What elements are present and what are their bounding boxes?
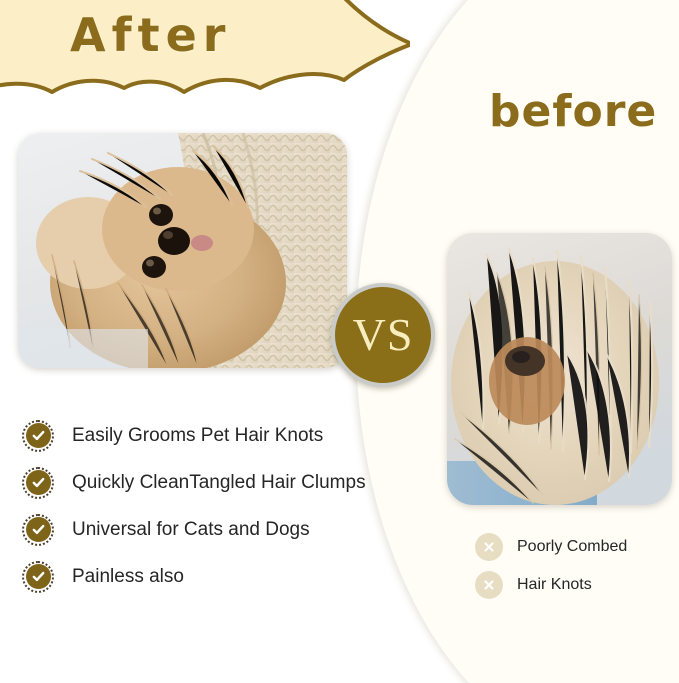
- check-circle-icon: [22, 420, 54, 452]
- list-item: Quickly CleanTangled Hair Clumps: [22, 459, 382, 506]
- vs-badge-label: VS: [353, 312, 414, 358]
- list-item: Easily Grooms Pet Hair Knots: [22, 412, 382, 459]
- list-item: Painless also: [22, 553, 382, 600]
- after-title: After: [70, 8, 232, 62]
- check-circle-icon: [22, 561, 54, 593]
- benefit-label: Universal for Cats and Dogs: [72, 519, 310, 541]
- benefit-label: Easily Grooms Pet Hair Knots: [72, 425, 323, 447]
- cons-list: Poorly Combed Hair Knots: [475, 528, 675, 604]
- before-title: before: [489, 86, 657, 137]
- list-item: Hair Knots: [475, 566, 675, 604]
- con-label: Poorly Combed: [517, 538, 627, 556]
- check-circle-icon: [22, 514, 54, 546]
- comparison-infographic: VS After before Easily Grooms Pet Hair K…: [0, 0, 679, 683]
- list-item: Universal for Cats and Dogs: [22, 506, 382, 553]
- con-label: Hair Knots: [517, 576, 592, 594]
- ungroomed-dog-photo: [447, 233, 672, 505]
- list-item: Poorly Combed: [475, 528, 675, 566]
- x-circle-icon: [475, 571, 503, 599]
- benefits-list: Easily Grooms Pet Hair Knots Quickly Cle…: [22, 412, 382, 600]
- x-circle-icon: [475, 533, 503, 561]
- check-circle-icon: [22, 467, 54, 499]
- benefit-label: Painless also: [72, 566, 184, 588]
- groomed-dog-photo: [18, 133, 347, 368]
- vs-badge: VS: [331, 283, 435, 387]
- benefit-label: Quickly CleanTangled Hair Clumps: [72, 472, 366, 494]
